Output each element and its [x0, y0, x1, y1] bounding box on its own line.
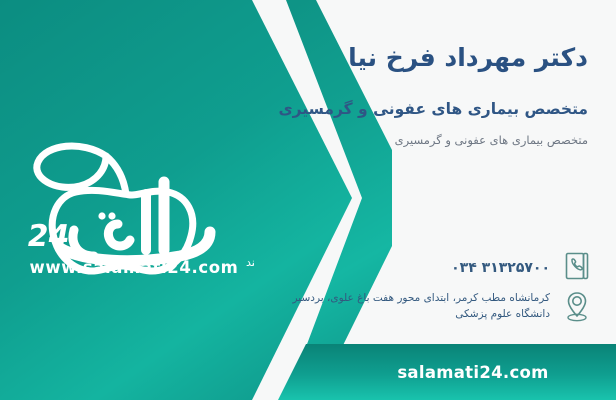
contact-phone-text: ۳۱۳۲۵۷۰۰ ۰۳۴	[164, 257, 550, 276]
doctor-specialty-primary: متخصص بیماری های عفونی و گرمسیری	[168, 100, 588, 118]
svg-text:24: 24	[24, 219, 72, 254]
address-line-1: کرمانشاه مطب کرمر، ابتدای محور هفت باغ ع…	[164, 290, 550, 306]
footer-website[interactable]: salamati24.com	[330, 344, 616, 400]
business-card: 24 به راحتی یک لبخند www.salamati24.com …	[0, 0, 616, 400]
phone-book-icon	[560, 248, 594, 284]
doctor-specialty-secondary: متخصص بیماری های عفونی و گرمسیری	[168, 133, 588, 147]
map-pin-icon	[560, 288, 594, 324]
phone-number: ۳۱۳۲۵۷۰۰ ۰۳۴	[451, 260, 550, 276]
contact-address-text: کرمانشاه مطب کرمر، ابتدای محور هفت باغ ع…	[164, 290, 550, 323]
leaf-icon	[37, 146, 106, 187]
contact-phone-row[interactable]: ۳۱۳۲۵۷۰۰ ۰۳۴	[164, 248, 594, 284]
contact-address-row[interactable]: کرمانشاه مطب کرمر، ابتدای محور هفت باغ ع…	[164, 288, 594, 324]
doctor-name: دکتر مهرداد فرخ نیا	[168, 42, 588, 73]
address-line-2: دانشگاه علوم پزشکی	[164, 306, 550, 322]
logo-number-24: 24	[24, 219, 72, 254]
